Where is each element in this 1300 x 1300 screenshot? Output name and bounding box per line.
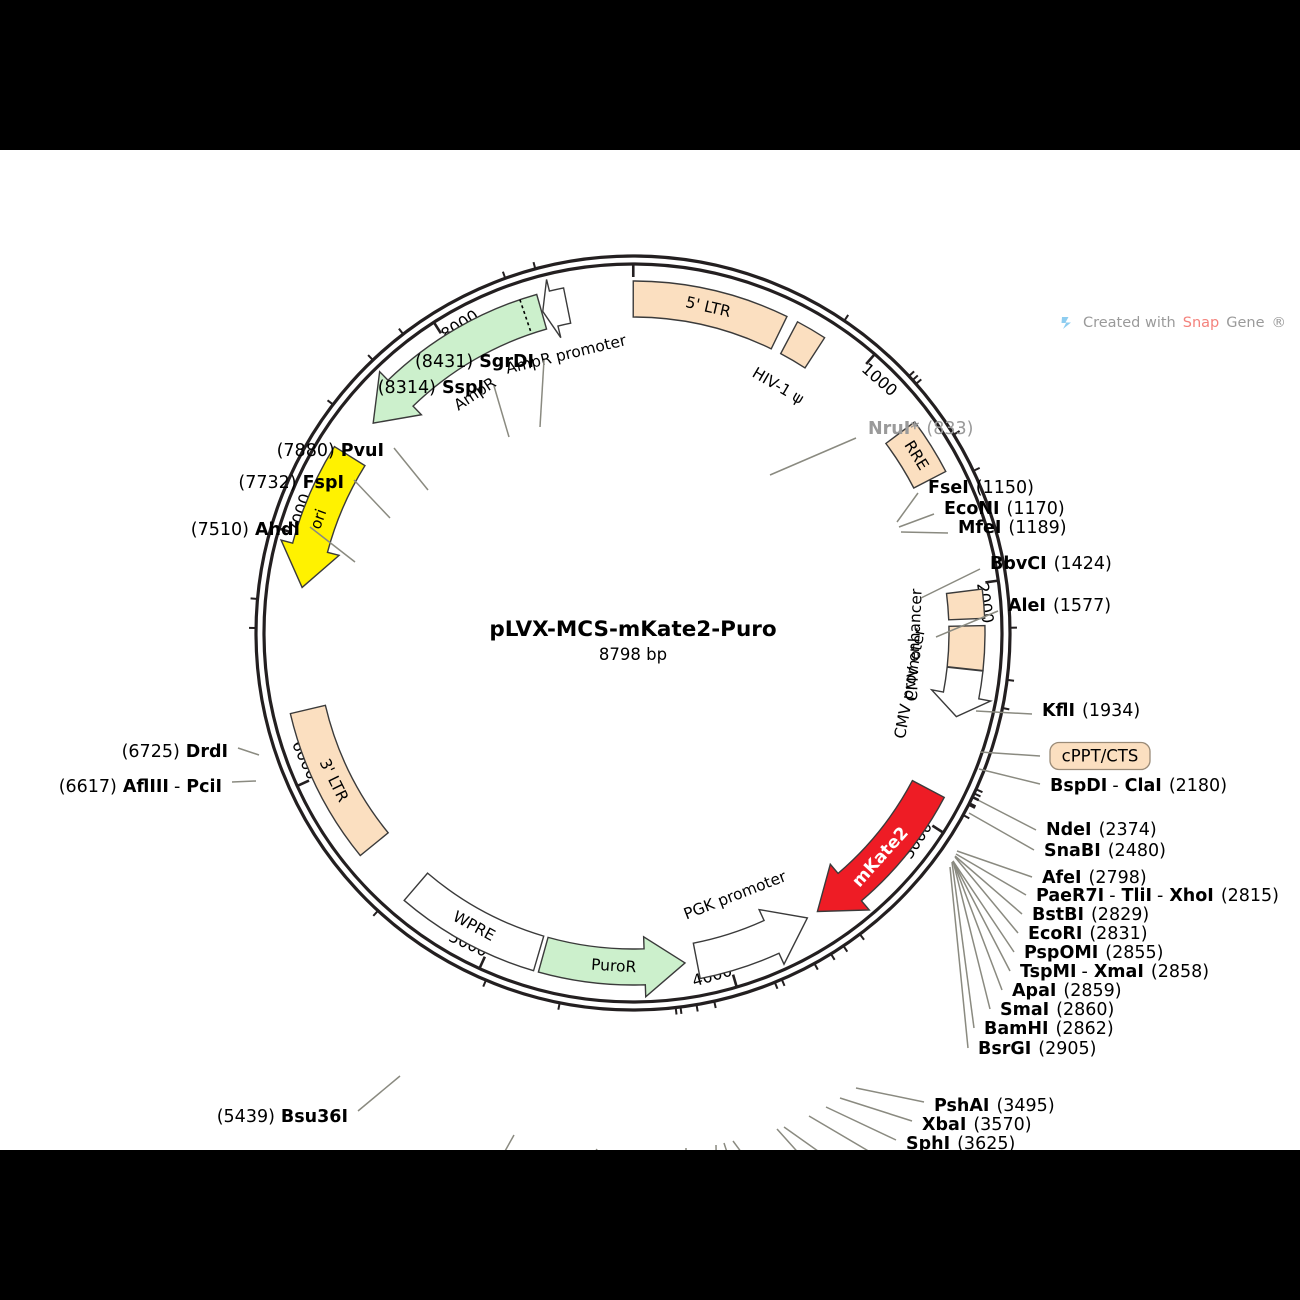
site-leader-line [856,1088,924,1102]
feature-pgk-promoter[interactable]: PGK promoter [681,867,807,978]
site-tick [251,598,258,599]
restriction-site-label[interactable]: TspMI-XmaI(2858) [1020,962,1209,982]
restriction-site-label[interactable]: (6617)AflIII-PciI [59,777,222,797]
site-tick [814,963,817,969]
feature-puror[interactable]: PuroR [538,937,685,997]
site-tick [963,815,969,818]
site-tick [328,400,334,404]
feature-shape [932,667,991,717]
site-tick [909,371,914,376]
feature-cppt-cts[interactable] [947,589,985,620]
site-tick [831,954,835,960]
site-tick [368,355,373,360]
restriction-site-label[interactable]: (7880)PvuI [277,441,384,461]
restriction-site-label[interactable]: (7732)FspI [238,473,344,493]
site-leader-line [899,514,934,527]
restriction-site-label[interactable]: PaeR7I-TliI-XhoI(2815) [1036,886,1279,906]
restriction-site-label[interactable]: (5439)Bsu36I [217,1107,348,1127]
site-tick [972,797,978,800]
restriction-site-label[interactable]: PspOMI(2855) [1024,943,1163,963]
restriction-site-label[interactable]: PshAI(3495) [934,1096,1055,1116]
restriction-site-label[interactable]: AfeI(2798) [1042,868,1147,888]
restriction-site-label[interactable]: EcoRI(2831) [1028,924,1148,944]
site-tick [697,1005,698,1012]
site-leader-line [969,813,1034,850]
ruler-tick-label: 1000 [858,359,901,400]
site-tick [399,329,403,335]
site-leader-line [897,493,918,522]
site-leader-line [540,360,544,427]
site-leader-line [354,480,390,518]
page-title: pLVX-MCS-mKate2-Puro [489,617,776,642]
site-leader-line [232,781,256,782]
site-leader-line [901,532,948,533]
feature-label: PuroR [591,956,637,977]
restriction-site-label[interactable]: (7510)AhdI [191,520,300,540]
site-tick [782,979,785,985]
site-tick [913,375,918,380]
site-leader-line [733,1141,796,1150]
restriction-site-label[interactable]: AleI(1577) [1008,596,1111,616]
site-tick [844,315,848,321]
feature-cppt-cts-callout[interactable]: cPPT/CTS [980,743,1150,770]
feature-shape [947,626,985,671]
callout-label: cPPT/CTS [1062,747,1139,766]
restriction-site-label[interactable]: SnaBI(2480) [1044,841,1166,861]
restriction-site-labels: NruI*(833)FseI(1150)EcoNI(1170)MfeI(1189… [59,352,1279,1150]
site-leader-line [976,711,1032,714]
plasmid-circular-map: 10002000300040005000600070008000 5' LTRH… [0,150,1300,1150]
restriction-site-label[interactable]: BbvCI(1424) [990,554,1112,574]
plasmid-size-label: 8798 bp [599,645,667,664]
restriction-site-label[interactable]: BamHI(2862) [984,1019,1114,1039]
restriction-site-label[interactable]: MfeI(1189) [958,518,1067,538]
site-tick [483,980,486,986]
feature-5-ltr[interactable]: 5' LTR [633,281,787,349]
site-leader-line [953,861,990,1009]
site-leader-line [238,748,259,755]
site-tick [681,1007,682,1014]
site-tick [916,379,921,384]
site-leader-line [724,1143,758,1150]
restriction-site-label[interactable]: SphI(3625) [906,1134,1015,1150]
site-tick [1007,680,1014,681]
site-leader-line [716,1145,718,1150]
site-leader-line [840,1098,912,1121]
site-tick [973,468,979,471]
restriction-site-label[interactable]: SmaI(2860) [1000,1000,1114,1020]
site-tick [503,272,505,279]
site-tick [373,911,378,916]
feature-shape [781,322,825,368]
plasmid-map-canvas: Created with SnapGene® 10002000300040005… [0,150,1300,1150]
restriction-site-label[interactable]: BspDI-ClaI(2180) [1050,776,1227,796]
site-leader-line [777,1129,838,1150]
site-tick [843,946,847,952]
site-tick [860,934,864,940]
restriction-site-label[interactable]: XbaI(3570) [922,1115,1032,1135]
screenshot-root: Created with SnapGene® 10002000300040005… [0,0,1300,1300]
site-leader-line [476,1135,514,1150]
site-leader-lines [232,262,1040,1150]
site-leader-line [979,769,1040,784]
site-leader-line [770,438,856,475]
feature-shape [947,589,985,620]
restriction-site-label[interactable]: BstBI(2829) [1032,905,1149,925]
restriction-site-label[interactable]: (6725)DrdI [122,742,228,762]
site-leader-line [974,798,1036,830]
restriction-site-label[interactable]: (8314)SspI [378,378,484,398]
site-leader-line [784,1127,856,1150]
restriction-site-label[interactable]: BsrGI(2905) [978,1039,1096,1059]
site-tick [676,1008,677,1015]
site-tick [976,789,982,792]
site-leader-line [494,386,509,437]
plasmid-center-title: pLVX-MCS-mKate2-Puro 8798 bp [489,617,776,664]
feature-label: CMV promoter [891,626,929,740]
site-leader-line [956,854,1026,895]
site-tick [558,1003,559,1010]
site-tick [1002,708,1009,709]
site-leader-line [394,448,428,490]
site-leader-line [358,1076,400,1111]
site-leader-line [548,1149,597,1150]
feature-label: HIV-1 ψ [749,364,807,408]
restriction-site-label[interactable]: EcoNI(1170) [944,499,1065,519]
site-tick [974,793,980,796]
site-leader-line [809,1116,882,1150]
feature-mkate2[interactable]: mKate2 [817,781,944,912]
site-tick [775,982,778,988]
site-leader-line [953,861,1010,971]
restriction-site-label[interactable]: NdeI(2374) [1046,820,1157,840]
restriction-site-label[interactable]: ApaI(2859) [1012,981,1122,1001]
restriction-site-label[interactable]: FseI(1150) [928,478,1034,498]
restriction-site-label[interactable]: KflI(1934) [1042,701,1140,721]
